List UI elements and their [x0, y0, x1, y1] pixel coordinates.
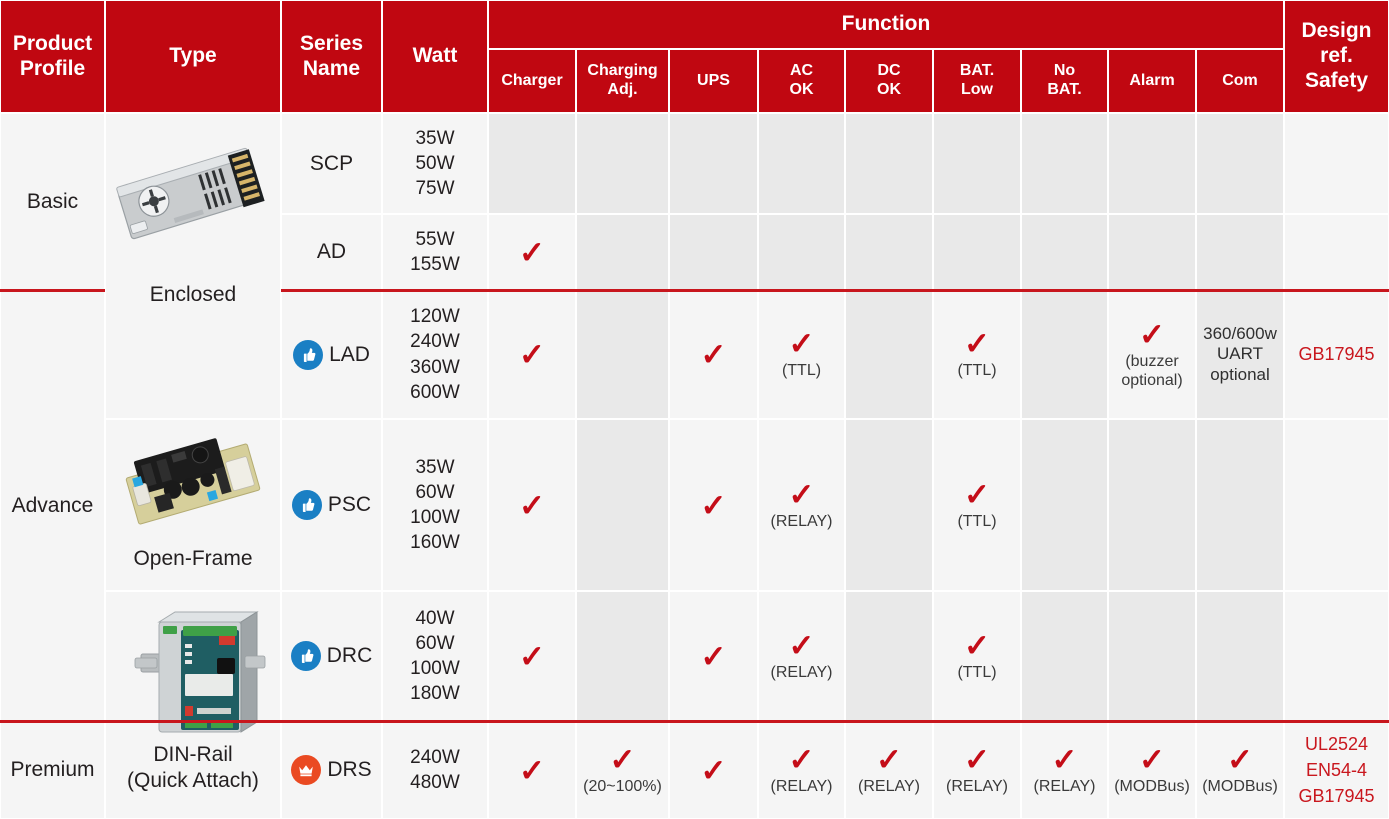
- series-cell-drs: DRS: [281, 721, 382, 819]
- header-type: Type: [105, 0, 281, 113]
- check-icon: ✓: [519, 641, 545, 672]
- func-cell-lad-ac-ok: ✓ (TTL): [758, 290, 845, 419]
- series-cell-drc: DRC: [281, 591, 382, 721]
- func-cell-ad-charging-adj: [576, 214, 669, 290]
- watt-value: 35W: [415, 126, 454, 151]
- check-icon: ✓: [701, 755, 727, 786]
- watt-value: 35W: [415, 455, 454, 480]
- func-cell-lad-ups: ✓: [669, 290, 758, 419]
- header-product-profile-line1: ProductProfile: [13, 32, 92, 82]
- func-cell-ad-ac-ok: [758, 214, 845, 290]
- profile-label-advance: Advance: [12, 492, 94, 520]
- check-icon: ✓: [1052, 744, 1078, 775]
- watt-value: 120W: [410, 304, 460, 329]
- watt-value: 50W: [415, 151, 454, 176]
- header-function-ups-label: UPS: [697, 72, 730, 91]
- func-cell-psc-charger: ✓: [488, 419, 576, 591]
- header-function-bat-low: BAT.Low: [933, 49, 1021, 113]
- watt-value: 240W: [410, 745, 460, 770]
- func-cell-drc-alarm: [1108, 591, 1196, 721]
- func-cell-drc-charger: ✓: [488, 591, 576, 721]
- func-note: (buzzeroptional): [1121, 353, 1182, 390]
- safety-cell-psc: [1284, 419, 1389, 591]
- func-cell-scp-charging-adj: [576, 113, 669, 214]
- check-icon: ✓: [964, 630, 990, 661]
- check-icon: ✓: [1227, 744, 1253, 775]
- profile-cell-premium: Premium: [0, 721, 105, 819]
- func-cell-drs-dc-ok: ✓ (RELAY): [845, 721, 933, 819]
- safety-cell-ad: [1284, 214, 1389, 290]
- header-series-name-label: SeriesName: [300, 32, 363, 82]
- thumbs-up-icon: [293, 340, 323, 370]
- watt-value: 600W: [410, 380, 460, 405]
- series-row-drc: DRC: [291, 641, 373, 671]
- check-icon: ✓: [789, 479, 815, 510]
- header-type-label: Type: [169, 44, 216, 69]
- profile-divider-advance-premium: [0, 720, 1389, 723]
- func-note: (20~100%): [583, 778, 662, 796]
- header-function-alarm: Alarm: [1108, 49, 1196, 113]
- watt-value: 240W: [410, 329, 460, 354]
- safety-standard: UL2524EN54-4GB17945: [1298, 731, 1374, 809]
- func-cell-lad-charging-adj: [576, 290, 669, 419]
- header-watt-label: Watt: [413, 44, 458, 69]
- series-cell-lad: LAD: [281, 290, 382, 419]
- header-function-bat-low-label: BAT.Low: [960, 62, 994, 100]
- func-cell-drc-ups: ✓: [669, 591, 758, 721]
- header-function-charger-label: Charger: [501, 72, 562, 91]
- check-icon: ✓: [519, 237, 545, 268]
- type-label-open-frame: Open-Frame: [133, 546, 252, 572]
- func-cell-ad-dc-ok: [845, 214, 933, 290]
- header-function-label: Function: [842, 12, 931, 37]
- series-row-drs: DRS: [291, 755, 371, 785]
- check-icon: ✓: [610, 744, 636, 775]
- func-cell-scp-alarm: [1108, 113, 1196, 214]
- check-icon: ✓: [519, 339, 545, 370]
- header-function-charging-adj: ChargingAdj.: [576, 49, 669, 113]
- header-function-no-bat: NoBAT.: [1021, 49, 1108, 113]
- header-function-ac-ok-label: ACOK: [790, 62, 814, 100]
- func-note: (RELAY): [946, 778, 1008, 796]
- func-cell-psc-com: [1196, 419, 1284, 591]
- check-icon: ✓: [789, 328, 815, 359]
- watt-value: 160W: [410, 530, 460, 555]
- series-row-scp: SCP: [310, 150, 353, 178]
- type-cell-enclosed: Enclosed: [105, 113, 281, 419]
- profile-divider-basic-advance-left: [0, 289, 105, 292]
- func-cell-lad-bat-low: ✓ (TTL): [933, 290, 1021, 419]
- series-cell-psc: PSC: [281, 419, 382, 591]
- check-icon: ✓: [876, 744, 902, 775]
- watt-value: 40W: [415, 606, 454, 631]
- func-cell-drc-charging-adj: [576, 591, 669, 721]
- type-cell-open-frame: Open-Frame: [105, 419, 281, 591]
- func-cell-ad-no-bat: [1021, 214, 1108, 290]
- func-cell-scp-charger: [488, 113, 576, 214]
- func-cell-drs-bat-low: ✓ (RELAY): [933, 721, 1021, 819]
- header-product-profile: ProductProfile: [0, 0, 105, 113]
- header-series-name: SeriesName: [281, 0, 382, 113]
- profile-cell-advance: Advance: [0, 290, 105, 721]
- func-cell-drc-bat-low: ✓ (TTL): [933, 591, 1021, 721]
- func-cell-ad-com: [1196, 214, 1284, 290]
- watt-value: 180W: [410, 681, 460, 706]
- check-icon: ✓: [519, 755, 545, 786]
- func-cell-drc-ac-ok: ✓ (RELAY): [758, 591, 845, 721]
- func-cell-scp-ac-ok: [758, 113, 845, 214]
- check-icon: ✓: [789, 630, 815, 661]
- func-cell-drc-dc-ok: [845, 591, 933, 721]
- series-label-lad: LAD: [329, 341, 370, 369]
- thumbs-up-icon: [292, 490, 322, 520]
- header-function-group: Function: [488, 0, 1284, 49]
- func-cell-scp-dc-ok: [845, 113, 933, 214]
- check-icon: ✓: [701, 641, 727, 672]
- watt-value: 100W: [410, 505, 460, 530]
- func-cell-psc-charging-adj: [576, 419, 669, 591]
- series-label-psc: PSC: [328, 491, 371, 519]
- func-cell-lad-charger: ✓: [488, 290, 576, 419]
- series-row-psc: PSC: [292, 490, 371, 520]
- func-cell-ad-bat-low: [933, 214, 1021, 290]
- din-rail-power-supply-photo: [113, 596, 273, 738]
- watt-cell-ad: 55W 155W: [382, 214, 488, 290]
- series-cell-scp: SCP: [281, 113, 382, 214]
- header-function-dc-ok: DCOK: [845, 49, 933, 113]
- type-cell-din-rail: DIN-Rail(Quick Attach): [105, 591, 281, 819]
- header-function-ups: UPS: [669, 49, 758, 113]
- func-cell-psc-no-bat: [1021, 419, 1108, 591]
- func-note: (MODBus): [1202, 778, 1278, 796]
- watt-value: 100W: [410, 656, 460, 681]
- check-icon: ✓: [789, 744, 815, 775]
- watt-cell-drs: 240W 480W: [382, 721, 488, 819]
- check-icon: ✓: [701, 339, 727, 370]
- func-cell-scp-ups: [669, 113, 758, 214]
- func-note: (RELAY): [771, 513, 833, 531]
- header-watt: Watt: [382, 0, 488, 113]
- check-icon: ✓: [519, 490, 545, 521]
- header-function-alarm-label: Alarm: [1129, 72, 1174, 91]
- watt-value: 480W: [410, 770, 460, 795]
- header-function-com-label: Com: [1222, 72, 1258, 91]
- func-cell-psc-bat-low: ✓ (TTL): [933, 419, 1021, 591]
- func-cell-ad-alarm: [1108, 214, 1196, 290]
- series-label-drs: DRS: [327, 756, 371, 784]
- func-note: (RELAY): [1034, 778, 1096, 796]
- func-cell-lad-com: 360/600wUARToptional: [1196, 290, 1284, 419]
- func-cell-psc-ac-ok: ✓ (RELAY): [758, 419, 845, 591]
- profile-label-premium: Premium: [10, 756, 94, 784]
- series-label-drc: DRC: [327, 642, 373, 670]
- func-cell-drc-no-bat: [1021, 591, 1108, 721]
- check-icon: ✓: [964, 328, 990, 359]
- header-function-dc-ok-label: DCOK: [877, 62, 901, 100]
- safety-cell-drs: UL2524EN54-4GB17945: [1284, 721, 1389, 819]
- watt-value: 60W: [415, 480, 454, 505]
- profile-cell-basic: Basic: [0, 113, 105, 290]
- func-cell-drs-charger: ✓: [488, 721, 576, 819]
- series-label-ad: AD: [317, 238, 346, 266]
- func-note: (TTL): [957, 664, 996, 682]
- crown-icon: [291, 755, 321, 785]
- watt-cell-drc: 40W 60W 100W 180W: [382, 591, 488, 721]
- watt-cell-scp: 35W 50W 75W: [382, 113, 488, 214]
- check-icon: ✓: [964, 744, 990, 775]
- func-cell-scp-com: [1196, 113, 1284, 214]
- func-cell-drs-com: ✓ (MODBus): [1196, 721, 1284, 819]
- series-row-ad: AD: [317, 238, 346, 266]
- func-note: (RELAY): [771, 778, 833, 796]
- func-cell-drs-ac-ok: ✓ (RELAY): [758, 721, 845, 819]
- series-cell-ad: AD: [281, 214, 382, 290]
- check-icon: ✓: [964, 479, 990, 510]
- open-frame-power-supply-photo: [112, 426, 274, 542]
- func-cell-drs-ups: ✓: [669, 721, 758, 819]
- func-note: (RELAY): [858, 778, 920, 796]
- func-cell-scp-no-bat: [1021, 113, 1108, 214]
- header-function-ac-ok: ACOK: [758, 49, 845, 113]
- watt-cell-psc: 35W 60W 100W 160W: [382, 419, 488, 591]
- safety-cell-scp: [1284, 113, 1389, 214]
- watt-cell-lad: 120W 240W 360W 600W: [382, 290, 488, 419]
- check-icon: ✓: [701, 490, 727, 521]
- func-cell-scp-bat-low: [933, 113, 1021, 214]
- watt-value: 75W: [415, 176, 454, 201]
- check-icon: ✓: [1139, 319, 1165, 350]
- series-label-scp: SCP: [310, 150, 353, 178]
- func-cell-psc-dc-ok: [845, 419, 933, 591]
- func-cell-lad-no-bat: [1021, 290, 1108, 419]
- func-cell-lad-alarm: ✓ (buzzeroptional): [1108, 290, 1196, 419]
- safety-standard: GB17945: [1298, 341, 1374, 367]
- check-icon: ✓: [1139, 744, 1165, 775]
- thumbs-up-icon: [291, 641, 321, 671]
- profile-divider-basic-advance-right: [281, 289, 1389, 292]
- func-note: 360/600wUARToptional: [1203, 324, 1277, 385]
- header-function-com: Com: [1196, 49, 1284, 113]
- watt-value: 60W: [415, 631, 454, 656]
- func-cell-drs-no-bat: ✓ (RELAY): [1021, 721, 1108, 819]
- func-cell-psc-ups: ✓: [669, 419, 758, 591]
- func-note: (RELAY): [771, 664, 833, 682]
- header-function-charging-adj-label: ChargingAdj.: [587, 62, 657, 100]
- series-row-lad: LAD: [293, 340, 370, 370]
- func-note: (TTL): [957, 362, 996, 380]
- func-cell-ad-ups: [669, 214, 758, 290]
- safety-cell-drc: [1284, 591, 1389, 721]
- func-cell-drs-charging-adj: ✓ (20~100%): [576, 721, 669, 819]
- func-cell-ad-charger: ✓: [488, 214, 576, 290]
- header-design-ref-safety-label: Designref.Safety: [1301, 19, 1371, 93]
- watt-value: 155W: [410, 252, 460, 277]
- func-cell-psc-alarm: [1108, 419, 1196, 591]
- header-function-charger: Charger: [488, 49, 576, 113]
- enclosed-power-supply-photo: [111, 128, 275, 278]
- header-design-ref-safety: Designref.Safety: [1284, 0, 1389, 113]
- profile-label-basic: Basic: [27, 188, 78, 216]
- func-note: (TTL): [957, 513, 996, 531]
- watt-value: 55W: [415, 227, 454, 252]
- type-label-enclosed: Enclosed: [150, 282, 236, 308]
- product-comparison-table: ProductProfile Type SeriesName Watt Func…: [0, 0, 1389, 819]
- func-cell-lad-dc-ok: [845, 290, 933, 419]
- func-note: (TTL): [782, 362, 821, 380]
- type-label-din-rail: DIN-Rail(Quick Attach): [127, 742, 259, 793]
- watt-value: 360W: [410, 355, 460, 380]
- func-note: (MODBus): [1114, 778, 1190, 796]
- func-cell-drs-alarm: ✓ (MODBus): [1108, 721, 1196, 819]
- func-cell-drc-com: [1196, 591, 1284, 721]
- header-function-no-bat-label: NoBAT.: [1047, 62, 1081, 100]
- safety-cell-lad: GB17945: [1284, 290, 1389, 419]
